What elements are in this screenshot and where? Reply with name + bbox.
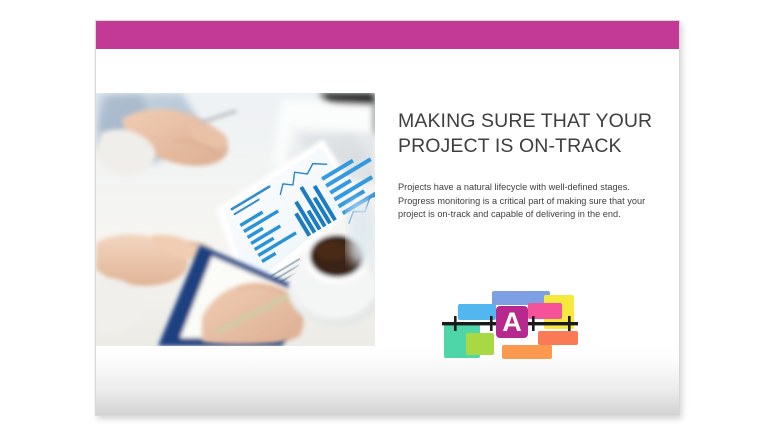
slide-accent-band [96, 21, 679, 49]
project-timeline-illustration: A [432, 279, 592, 363]
timeline-tick [532, 316, 535, 331]
timeline-lime-block [466, 333, 494, 355]
timeline-letter-a: A [502, 307, 522, 337]
slide-canvas: MAKING SURE THAT YOUR PROJECT IS ON-TRAC… [0, 0, 770, 440]
timeline-tick [568, 316, 571, 331]
page-title: MAKING SURE THAT YOUR PROJECT IS ON-TRAC… [398, 109, 660, 159]
slide-body-text: Projects have a natural lifecycle with w… [398, 181, 660, 222]
timeline-periwinkle-bar [492, 291, 550, 305]
presentation-slide: MAKING SURE THAT YOUR PROJECT IS ON-TRAC… [95, 20, 680, 416]
timeline-orange-bar-bottom [502, 345, 552, 359]
timeline-tick [454, 316, 457, 331]
slide-content-column: MAKING SURE THAT YOUR PROJECT IS ON-TRAC… [398, 109, 660, 222]
timeline-tick [490, 316, 493, 331]
timeline-orange-bar-right [538, 331, 578, 345]
slide-photo [96, 93, 375, 346]
